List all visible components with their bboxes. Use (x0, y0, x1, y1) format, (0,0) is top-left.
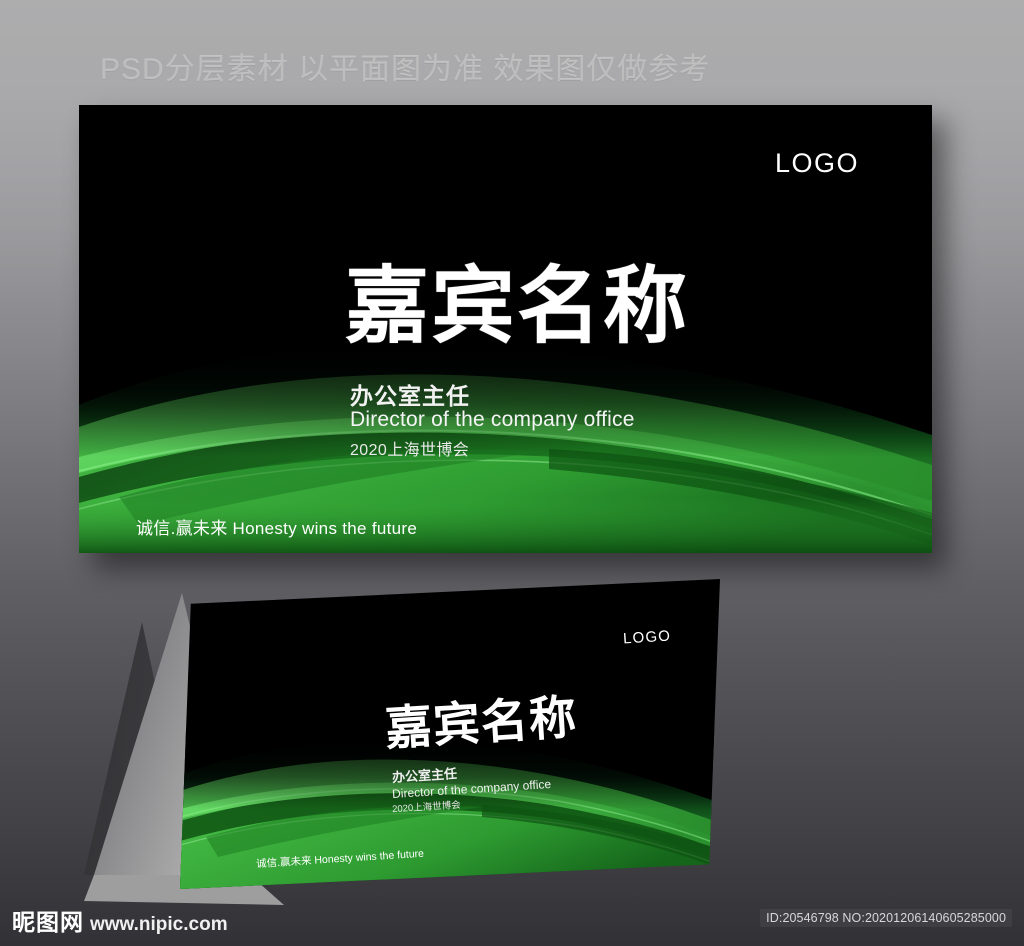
nipic-watermark-logo: 昵图网 www.nipic.com (12, 911, 228, 934)
screenshot-canvas: PSD分层素材 以平面图为准 效果图仅做参考 (0, 0, 1024, 946)
card-role-cn: 办公室主任 (350, 377, 470, 411)
card-logo: LOGO (775, 148, 859, 179)
tent-front-panel: LOGO 嘉宾名称 办公室主任 Director of the company … (180, 579, 720, 889)
card-role-en: Director of the company office (350, 408, 635, 432)
tent-card-logo: LOGO (622, 628, 671, 648)
card-event-name: 2020上海世博会 (350, 436, 469, 460)
tent-card-guest-title: 嘉宾名称 (384, 693, 579, 752)
main-card-preview: LOGO 嘉宾名称 办公室主任 Director of the company … (79, 105, 932, 553)
nipic-logo-cn: 昵图网 (12, 911, 84, 934)
tent-card-mockup: LOGO 嘉宾名称 办公室主任 Director of the company … (0, 555, 1024, 915)
card-guest-title: 嘉宾名称 (345, 264, 689, 348)
watermark-header-text: PSD分层素材 以平面图为准 效果图仅做参考 (100, 44, 710, 88)
asset-id-label: ID:20546798 NO:20201206140605285000 (760, 909, 1012, 927)
nipic-logo-url: www.nipic.com (90, 915, 228, 934)
card-slogan: 诚信.赢未来 Honesty wins the future (136, 514, 417, 539)
